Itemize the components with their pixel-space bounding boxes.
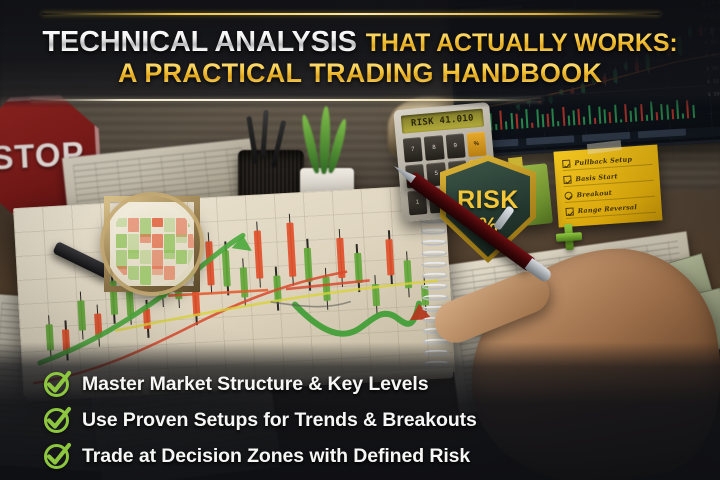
checkbox-icon xyxy=(563,176,572,185)
sticky-note-text: Basis Start xyxy=(575,172,618,183)
indicator-bar xyxy=(594,118,596,125)
title-part-silver: TECHNICAL ANALYSIS xyxy=(42,26,356,58)
book-cover-banner: STOP $ 64 xyxy=(0,0,720,480)
indicator-bar xyxy=(682,114,684,119)
indicator-bar xyxy=(505,121,507,129)
magnifier-rim xyxy=(100,192,204,296)
monitor-panel-tab xyxy=(638,128,686,138)
checkbox-icon xyxy=(562,160,571,169)
indicator-bar xyxy=(620,119,622,122)
calculator-display: RISK 41.010 xyxy=(401,109,484,134)
indicator-bar xyxy=(536,110,539,128)
benefit-item: Trade at Decision Zones with Defined Ris… xyxy=(44,438,684,474)
monitor-panel-tab xyxy=(582,132,630,142)
sticky-note-text: Breakout xyxy=(576,189,612,199)
plus-icon xyxy=(555,223,583,251)
indicator-bar xyxy=(532,123,534,128)
spiral-ring xyxy=(422,272,448,279)
indicator-bar xyxy=(541,114,544,127)
spiral-ring xyxy=(422,283,448,290)
benefit-item: Use Proven Setups for Trends & Breakouts xyxy=(44,402,684,438)
indicator-bar xyxy=(557,121,559,126)
magnifier-icon xyxy=(104,196,200,292)
divider-bottom xyxy=(30,99,542,101)
indicator-bar xyxy=(588,105,591,124)
indicator-bar xyxy=(510,113,513,129)
benefit-text: Trade at Decision Zones with Defined Ris… xyxy=(82,445,470,468)
indicator-bar xyxy=(635,107,638,121)
indicator-bar xyxy=(578,109,581,125)
indicator-bar xyxy=(572,110,575,125)
calculator-display-value: RISK 41.010 xyxy=(411,113,475,128)
indicator-bar xyxy=(515,114,518,129)
checkbox-icon xyxy=(564,192,573,201)
indicator-bar xyxy=(500,111,503,130)
subtitle-text: A PRACTICAL TRADING HANDBOOK xyxy=(118,58,602,88)
indicator-bar xyxy=(630,110,633,121)
indicator-bar xyxy=(551,109,554,127)
benefit-text: Master Market Structure & Key Levels xyxy=(82,373,428,396)
indicator-bar xyxy=(604,109,607,123)
calculator-key: % xyxy=(466,132,486,157)
indicator-bar xyxy=(609,112,612,123)
indicator-bar xyxy=(525,109,528,128)
benefits-list: Master Market Structure & Key LevelsUse … xyxy=(44,366,684,474)
indicator-bar xyxy=(598,106,601,123)
page-subtitle: A PRACTICAL TRADING HANDBOOK xyxy=(0,58,720,89)
sticky-note-checklist: Pullback SetupBasis StartBreakoutRange R… xyxy=(553,144,662,227)
calculator-key: 7 xyxy=(403,137,423,162)
check-circle-icon xyxy=(44,372,69,397)
indicator-bar xyxy=(521,119,524,129)
indicator-bar xyxy=(547,114,550,127)
spiral-ring xyxy=(422,294,448,301)
checkbox-icon xyxy=(565,207,574,216)
indicator-bar xyxy=(495,124,497,131)
page-title: TECHNICAL ANALYSISTHAT ACTUALLY WORKS: xyxy=(0,26,720,59)
indicator-bar xyxy=(671,109,674,119)
divider-top xyxy=(42,13,660,15)
benefit-text: Use Proven Setups for Trends & Breakouts xyxy=(82,409,477,432)
indicator-bar xyxy=(646,114,648,121)
check-circle-icon xyxy=(44,444,69,469)
indicator-bar xyxy=(562,107,565,126)
check-circle-icon xyxy=(44,408,69,433)
benefit-item: Master Market Structure & Key Levels xyxy=(44,366,684,402)
indicator-bar xyxy=(656,112,658,120)
indicator-bar xyxy=(583,116,585,124)
monitor-panel-tab xyxy=(526,135,574,145)
title-part-gold: THAT ACTUALLY WORKS: xyxy=(366,29,678,57)
indicator-bar xyxy=(568,116,571,126)
